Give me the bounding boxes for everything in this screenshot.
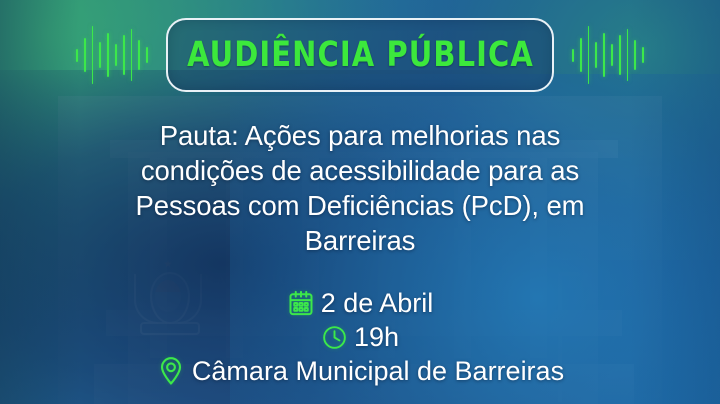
event-date-label: 2 de Abril xyxy=(321,288,434,318)
audio-waveform-icon-left xyxy=(76,18,148,92)
event-details: 2 de Abril 19h Câmara xyxy=(0,286,720,388)
waveform-bar xyxy=(107,33,109,77)
agenda-text: Pauta: Ações para melhorias nas condiçõe… xyxy=(52,118,668,258)
agenda-line: condições de acessibilidade para as xyxy=(52,153,668,188)
event-time-label: 19h xyxy=(354,322,399,352)
event-date-row: 2 de Abril xyxy=(0,286,720,320)
page-title: AUDIÊNCIA PÚBLICA xyxy=(187,35,534,75)
waveform-bar xyxy=(92,26,94,84)
clock-icon xyxy=(321,324,348,351)
calendar-icon xyxy=(287,289,315,317)
waveform-bar xyxy=(627,29,629,81)
waveform-bar xyxy=(595,42,597,68)
event-location-label: Câmara Municipal de Barreiras xyxy=(192,356,564,386)
title-badge: AUDIÊNCIA PÚBLICA xyxy=(166,18,554,92)
waveform-bar xyxy=(580,38,582,72)
agenda-line: Pauta: Ações para melhorias nas xyxy=(52,118,668,153)
waveform-bar xyxy=(115,44,117,66)
waveform-bar xyxy=(138,40,140,70)
agenda-line: Barreiras xyxy=(52,223,668,258)
waveform-bar xyxy=(603,33,605,77)
waveform-bar xyxy=(123,35,125,75)
agenda-line: Pessoas com Deficiências (PcD), em xyxy=(52,188,668,223)
waveform-bar xyxy=(642,47,644,63)
waveform-bar xyxy=(146,47,148,63)
waveform-bar xyxy=(611,44,613,66)
waveform-bar xyxy=(99,42,101,68)
banner-canvas: CÂMARA MUNICIPAL AUDIÊNCIA PÚBLICA Pauta… xyxy=(0,0,720,404)
map-pin-icon xyxy=(156,356,186,386)
audio-waveform-icon-right xyxy=(572,18,644,92)
waveform-bar xyxy=(588,26,590,84)
waveform-bar xyxy=(572,49,574,62)
banner-content: AUDIÊNCIA PÚBLICA Pauta: Ações para melh… xyxy=(0,0,720,404)
waveform-bar xyxy=(619,35,621,75)
event-time-row: 19h xyxy=(0,320,720,354)
waveform-bar xyxy=(131,29,133,81)
waveform-bar xyxy=(76,49,78,62)
waveform-bar xyxy=(634,40,636,70)
event-location-row: Câmara Municipal de Barreiras xyxy=(0,354,720,388)
waveform-bar xyxy=(84,38,86,72)
banner-header: AUDIÊNCIA PÚBLICA xyxy=(0,18,720,92)
